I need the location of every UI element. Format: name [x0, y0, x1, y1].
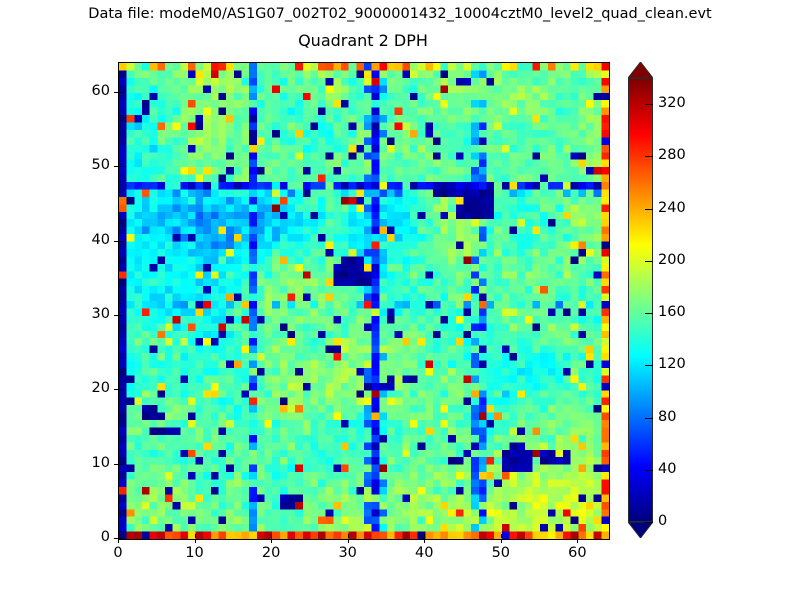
x-tick-mark [501, 539, 502, 543]
colorbar-tick-label: 0 [658, 513, 667, 530]
y-tick-mark [114, 241, 118, 242]
colorbar-tick-mark [645, 522, 653, 523]
y-tick-mark [114, 538, 118, 539]
colorbar-tick-label: 200 [658, 252, 686, 269]
x-tick-mark [348, 539, 349, 543]
figure-canvas: Data file: modeM0/AS1G07_002T02_90000014… [0, 0, 800, 600]
x-tick-mark [424, 539, 425, 543]
x-tick-mark-inner [577, 534, 578, 538]
x-tick-label: 0 [88, 545, 148, 562]
heatmap-axes[interactable] [118, 62, 610, 540]
x-tick-mark-inner [424, 534, 425, 538]
colorbar-tick-label: 160 [658, 304, 686, 321]
y-tick-mark [114, 464, 118, 465]
colorbar-over-arrow [628, 62, 653, 78]
colorbar-tick-label: 240 [658, 200, 686, 217]
y-tick-label: 20 [50, 380, 110, 397]
colorbar-tick-mark [645, 104, 653, 105]
x-tick-label: 10 [165, 545, 225, 562]
x-tick-label: 60 [547, 545, 607, 562]
x-tick-mark-inner [501, 534, 502, 538]
x-tick-label: 30 [318, 545, 378, 562]
y-tick-mark-inner [119, 538, 123, 539]
x-tick-mark-inner [195, 534, 196, 538]
y-tick-label: 10 [50, 455, 110, 472]
colorbar-tick-mark [645, 156, 653, 157]
colorbar-tick-mark [645, 470, 653, 471]
x-tick-label: 50 [471, 545, 531, 562]
y-tick-label: 40 [50, 232, 110, 249]
y-tick-mark-inner [119, 315, 123, 316]
y-tick-mark [114, 389, 118, 390]
detector-pixel-map[interactable] [119, 63, 609, 539]
colorbar-tick-label: 80 [658, 409, 676, 426]
y-tick-mark-inner [119, 389, 123, 390]
x-tick-mark-inner [271, 534, 272, 538]
y-tick-label: 0 [50, 529, 110, 546]
y-tick-label: 30 [50, 306, 110, 323]
x-tick-mark [577, 539, 578, 543]
y-tick-mark-inner [119, 241, 123, 242]
x-tick-mark [271, 539, 272, 543]
data-file-suptitle: Data file: modeM0/AS1G07_002T02_90000014… [0, 5, 800, 23]
y-tick-mark [114, 315, 118, 316]
x-tick-label: 40 [394, 545, 454, 562]
colorbar-tick-mark [645, 261, 653, 262]
x-tick-mark [118, 539, 119, 543]
y-tick-mark-inner [119, 166, 123, 167]
colorbar-gradient[interactable] [628, 78, 653, 522]
x-tick-mark [195, 539, 196, 543]
plot-title: Quadrant 2 DPH [118, 31, 608, 51]
x-tick-mark-inner [348, 534, 349, 538]
y-tick-label: 60 [50, 83, 110, 100]
colorbar-tick-label: 40 [658, 461, 676, 478]
colorbar-tick-label: 120 [658, 356, 686, 373]
colorbar-tick-label: 320 [658, 95, 686, 112]
colorbar-tick-label: 280 [658, 147, 686, 164]
x-tick-label: 20 [241, 545, 301, 562]
y-tick-label: 50 [50, 157, 110, 174]
colorbar-tick-mark [645, 313, 653, 314]
y-tick-mark-inner [119, 464, 123, 465]
colorbar-tick-mark [645, 365, 653, 366]
colorbar-tick-mark [645, 418, 653, 419]
colorbar-tick-mark [645, 209, 653, 210]
y-tick-mark [114, 166, 118, 167]
y-tick-mark [114, 92, 118, 93]
y-tick-mark-inner [119, 92, 123, 93]
colorbar-under-arrow [628, 522, 653, 538]
